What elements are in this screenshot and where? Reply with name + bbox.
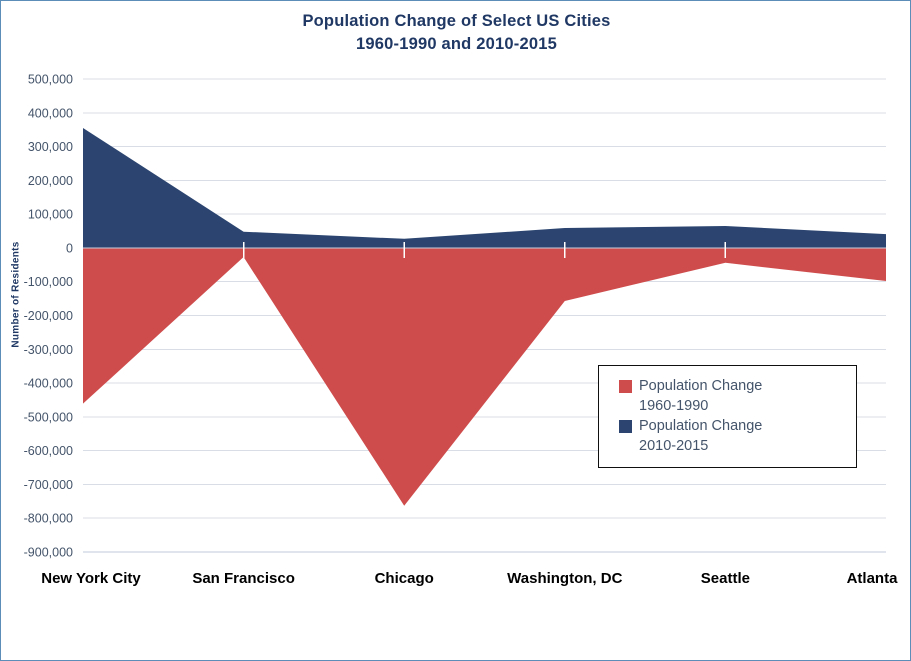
y-tick-label: -700,000 <box>24 478 73 492</box>
y-tick-label: 0 <box>66 241 73 255</box>
legend-label-blue: Population Change 2010-2015 <box>639 416 762 456</box>
y-tick-label: -600,000 <box>24 444 73 458</box>
y-tick-label: 100,000 <box>28 208 73 222</box>
y-tick-label: -200,000 <box>24 309 73 323</box>
y-tick-label: -100,000 <box>24 275 73 289</box>
y-tick-label: -300,000 <box>24 343 73 357</box>
y-tick-label: 500,000 <box>28 73 73 87</box>
y-tick-label: 200,000 <box>28 174 73 188</box>
legend-label-red: Population Change 1960-1990 <box>639 376 762 416</box>
y-tick-label: -500,000 <box>24 410 73 424</box>
y-tick-label: -900,000 <box>24 546 73 560</box>
x-tick-label: Chicago <box>375 570 434 587</box>
chart-container: Population Change of Select US Cities 19… <box>0 0 911 661</box>
x-tick-label: San Francisco <box>192 570 295 587</box>
y-tick-label: 400,000 <box>28 106 73 120</box>
series-area-blue <box>83 128 886 248</box>
plot-area: 500,000400,000300,000200,000100,0000-100… <box>1 1 911 661</box>
y-tick-labels-group: 500,000400,000300,000200,000100,0000-100… <box>24 73 73 560</box>
x-tick-labels-group: New York CitySan FranciscoChicagoWashing… <box>41 570 898 587</box>
x-tick-label: Washington, DC <box>507 570 622 587</box>
x-tick-label: New York City <box>41 570 141 587</box>
y-tick-label: -400,000 <box>24 377 73 391</box>
x-tick-label: Atlanta <box>847 570 898 587</box>
y-tick-label: 300,000 <box>28 140 73 154</box>
y-tick-label: -800,000 <box>24 512 73 526</box>
legend-item-red: Population Change 1960-1990 <box>599 376 856 416</box>
chart-legend: Population Change 1960-1990 Population C… <box>598 365 857 468</box>
legend-swatch-red-icon <box>619 380 632 393</box>
legend-swatch-blue-icon <box>619 420 632 433</box>
x-tick-label: Seattle <box>701 570 750 587</box>
legend-item-blue: Population Change 2010-2015 <box>599 416 856 456</box>
